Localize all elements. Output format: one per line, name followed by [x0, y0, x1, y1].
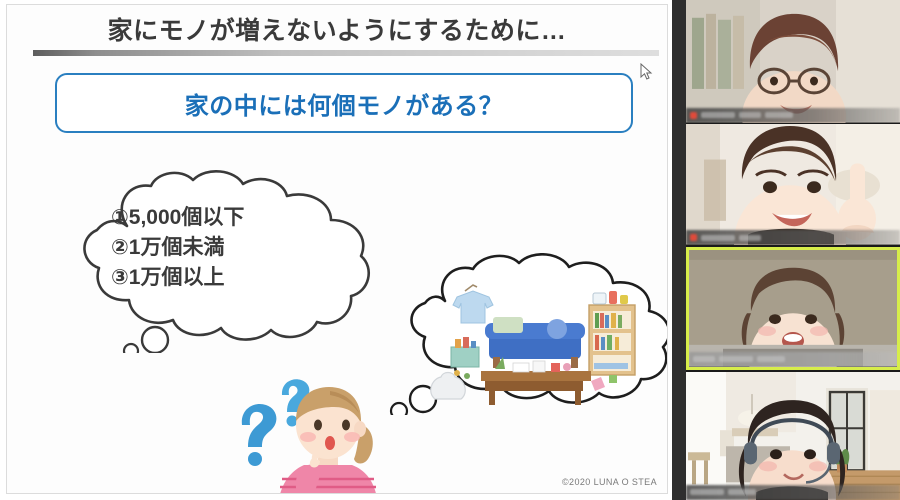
answer-choice-list: ①5,000個以下 ②1万個未満 ③1万個以上 — [111, 204, 244, 292]
participant-video-panel — [686, 0, 900, 500]
participant-4-name-bar — [686, 485, 900, 500]
cluttered-room-thought-cloud — [385, 253, 668, 415]
slide-copyright-footer: ©2020 LUNA O STEA — [562, 477, 657, 487]
participant-4-video — [686, 372, 900, 500]
participant-2-name-bar — [686, 230, 900, 245]
participant-3-name-label-end — [757, 356, 785, 362]
mute-icon — [690, 112, 697, 119]
participant-1-video — [686, 0, 900, 123]
participant-2-name-label-cont — [739, 235, 761, 241]
participant-3-name-label-cont — [719, 356, 753, 362]
participant-3-video — [689, 250, 897, 367]
participant-2-name-label — [701, 235, 735, 241]
participant-tile-2[interactable] — [686, 124, 900, 245]
thinking-girl-illustration — [222, 373, 382, 494]
mute-icon — [690, 234, 697, 241]
participant-1-name-label-cont — [739, 112, 761, 118]
participant-4-name-label-cont — [728, 489, 756, 495]
participant-1-name-label-end — [765, 112, 793, 118]
participant-tile-4[interactable] — [686, 372, 900, 500]
participant-1-name-bar — [686, 108, 900, 123]
answer-thought-cloud: ①5,000個以下 ②1万個未満 ③1万個以上 — [69, 168, 387, 353]
girl-character-icon — [222, 373, 382, 494]
question-text: 家の中には何個モノがある？ — [185, 86, 504, 121]
panel-divider — [672, 0, 686, 500]
participant-3-name-bar — [689, 352, 897, 367]
room-cloud-shape-icon — [385, 253, 668, 415]
participant-2-video — [686, 124, 900, 245]
shared-screen-area[interactable]: 家にモノが増えないようにするために… 家の中には何個モノがある？ ①5,000個… — [0, 0, 672, 500]
participant-3-name-label — [693, 356, 715, 362]
answer-choice-3: ③1万個以上 — [111, 264, 244, 292]
slide-title: 家にモノが増えないようにするために… — [7, 11, 667, 47]
screen-share-meeting-view: 家にモノが増えないようにするために… 家の中には何個モノがある？ ①5,000個… — [0, 0, 900, 500]
title-divider-rule — [33, 50, 659, 56]
participant-tile-3-active-speaker[interactable] — [686, 247, 900, 370]
presentation-slide: 家にモノが増えないようにするために… 家の中には何個モノがある？ ①5,000個… — [6, 4, 668, 494]
arrow-cursor-icon — [640, 63, 654, 81]
question-mark-large-icon — [242, 404, 277, 466]
question-callout-box: 家の中には何個モノがある？ — [55, 73, 633, 133]
participant-tile-1[interactable] — [686, 0, 900, 123]
participant-1-name-label — [701, 112, 735, 118]
answer-choice-2: ②1万個未満 — [111, 234, 244, 262]
answer-choice-1: ①5,000個以下 — [111, 204, 244, 232]
participant-4-name-label — [690, 489, 724, 495]
